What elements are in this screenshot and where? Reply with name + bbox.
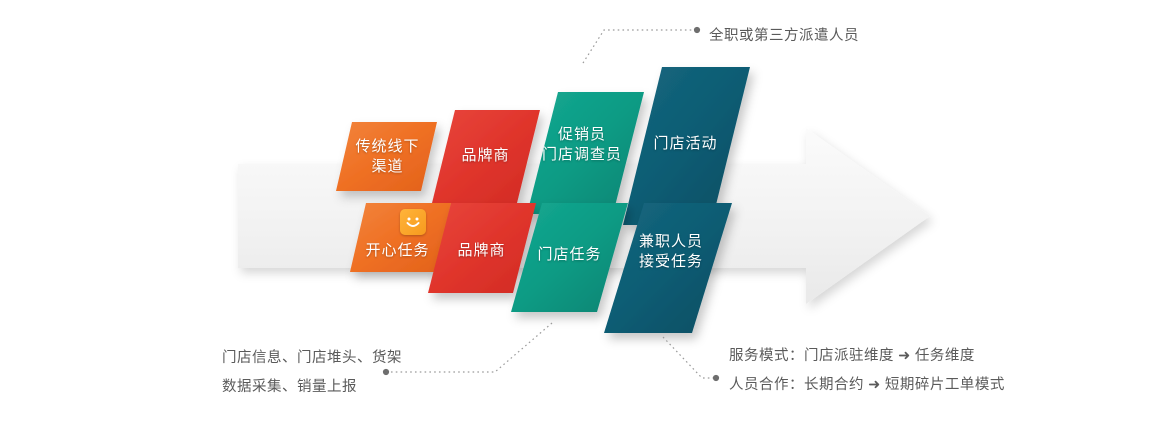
connector-dot-store-data (383, 369, 389, 375)
annotation-store-data-line-1: 门店信息、门店堆头、货架 (222, 346, 402, 367)
annotation-store-data-line-2: 数据采集、销量上报 (222, 375, 357, 396)
annotation-service-model-line-2: 人员合作：长期合约 ➜ 短期碎片工单模式 (729, 373, 1005, 394)
connector-store-data (389, 323, 552, 372)
annotation-staffing-line-1: 全职或第三方派遣人员 (709, 24, 859, 45)
connector-dot-staffing (694, 27, 700, 33)
chevron-top-1[interactable] (336, 122, 437, 191)
connector-service-model (663, 337, 718, 378)
connector-dot-service-model (713, 375, 719, 381)
smiley-app-icon (400, 209, 426, 235)
connector-staffing (583, 30, 697, 63)
diagram-svg (0, 0, 1150, 430)
diagram-canvas: 传统线下 渠道 品牌商 促销员 门店调查员 门店活动 开心任务 品牌商 门店任务… (0, 0, 1150, 430)
annotation-service-model-line-1: 服务模式：门店派驻维度 ➜ 任务维度 (729, 344, 975, 365)
